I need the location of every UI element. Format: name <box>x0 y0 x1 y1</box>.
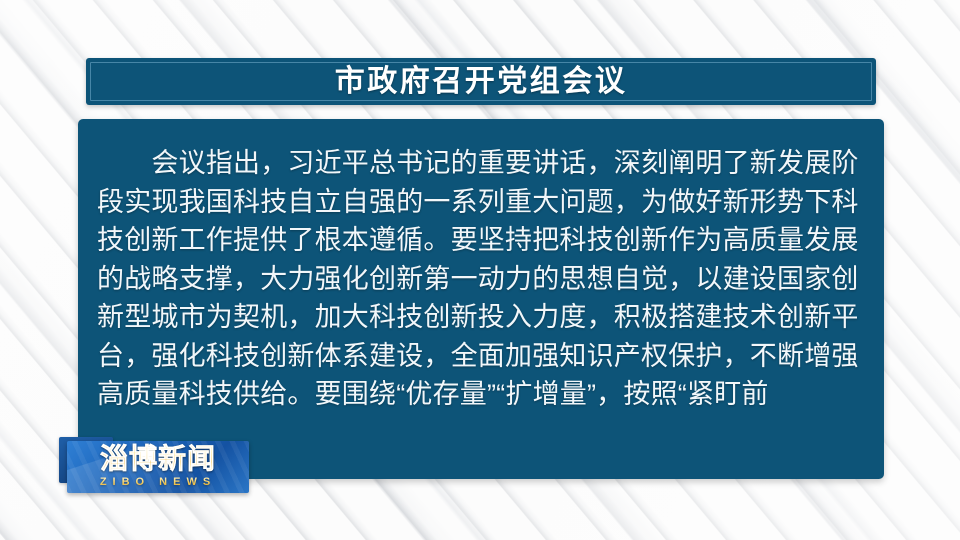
headline-bar: 市政府召开党组会议 <box>86 58 876 105</box>
broadcast-graphic-frame: 市政府召开党组会议 会议指出，习近平总书记的重要讲话，深刻阐明了新发展阶段实现我… <box>0 0 960 540</box>
headline-title: 市政府召开党组会议 <box>335 67 628 97</box>
station-logo-name-cn: 淄博新闻 <box>67 442 249 476</box>
body-paragraph: 会议指出，习近平总书记的重要讲话，深刻阐明了新发展阶段实现我国科技自立自强的一系… <box>97 144 865 414</box>
station-logo: 淄博新闻 ZIBO NEWS <box>59 437 249 493</box>
station-logo-name-en: ZIBO NEWS <box>67 476 249 488</box>
station-logo-plate: 淄博新闻 ZIBO NEWS <box>67 441 249 493</box>
body-panel: 会议指出，习近平总书记的重要讲话，深刻阐明了新发展阶段实现我国科技自立自强的一系… <box>78 119 884 479</box>
